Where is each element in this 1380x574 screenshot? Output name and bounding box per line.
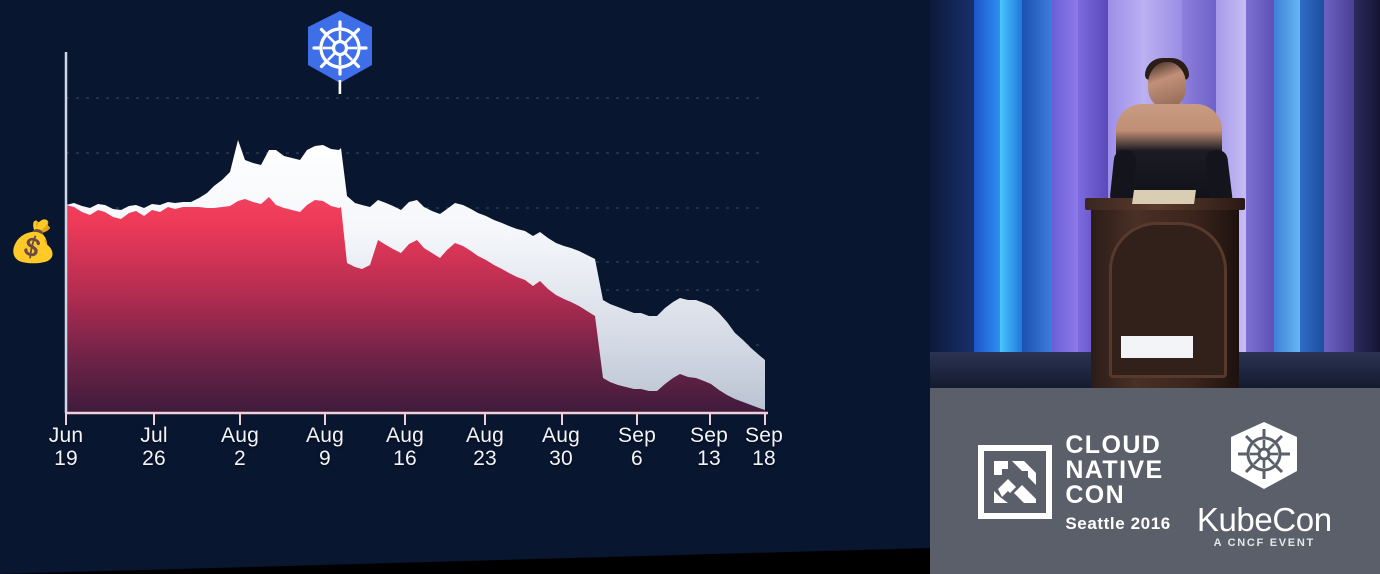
cloud-native-con-lockup: CLOUD NATIVE CON Seattle 2016	[978, 433, 1171, 536]
presentation-slide: 💰	[0, 0, 930, 574]
cncf-logo-icon	[978, 445, 1052, 524]
x-tick-label: Jun 19	[26, 424, 106, 470]
cloud-native-con-wordmark: CLOUD NATIVE CON Seattle 2016	[1065, 433, 1171, 536]
kubecon-wordmark: KubeCon	[1197, 503, 1332, 536]
money-bag-icon: 💰	[8, 214, 54, 270]
podium-sign-band	[1121, 336, 1193, 358]
screen: 💰	[0, 0, 1380, 574]
x-tick-label: Aug 2	[200, 424, 280, 470]
x-tick-label: Sep 18	[724, 424, 804, 470]
x-tick-label: Jul 26	[114, 424, 194, 470]
podium-notes	[1132, 190, 1196, 204]
cncf-line-2: NATIVE	[1065, 456, 1163, 484]
kubernetes-icon	[299, 8, 381, 94]
branding-panel: CLOUD NATIVE CON Seattle 2016	[930, 388, 1380, 574]
podium	[1091, 206, 1239, 388]
kubernetes-helm-icon	[1221, 419, 1307, 502]
cost-area-chart: 💰	[0, 0, 930, 560]
x-tick-label: Aug 16	[365, 424, 445, 470]
cncf-line-1: CLOUD	[1065, 431, 1161, 459]
cncf-line-3: CON	[1065, 481, 1125, 509]
x-tick-label: Sep 6	[597, 424, 677, 470]
x-tick-label: Aug 30	[521, 424, 601, 470]
x-tick-label: Aug 9	[285, 424, 365, 470]
cncf-city-year: Seattle 2016	[1065, 511, 1171, 536]
podium-sign	[1121, 318, 1193, 376]
stage-video-feed	[930, 0, 1380, 388]
chart-canvas	[0, 0, 930, 560]
x-tick-label: Aug 23	[445, 424, 525, 470]
speaker-head	[1148, 62, 1186, 108]
kubecon-tagline: A CNCF EVENT	[1214, 537, 1315, 549]
kubecon-lockup: KubeCon A CNCF EVENT	[1197, 419, 1332, 549]
